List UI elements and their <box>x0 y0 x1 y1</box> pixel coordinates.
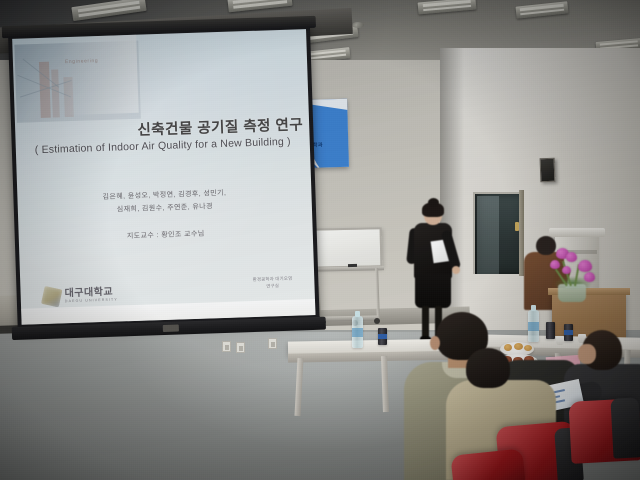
orchid-bloom <box>584 272 595 282</box>
door-leaf <box>477 196 499 274</box>
attendee-ear <box>430 336 440 350</box>
wall-outlet <box>268 338 277 349</box>
attendee-head <box>466 348 510 388</box>
auditorium-seat-arm <box>610 397 640 458</box>
water-bottle <box>528 310 539 342</box>
logo-name-en: DAEGU UNIVERSITY <box>65 298 118 304</box>
presenter-hand <box>452 266 460 274</box>
orchid-bloom <box>578 260 592 272</box>
whiteboard-base <box>322 316 378 322</box>
presentation-slide: Engineering 신축건물 공기질 측정 연구 ( Estimation … <box>12 29 315 325</box>
beverage-can <box>378 328 387 345</box>
presenter-skirt <box>415 274 451 308</box>
ceiling-vent <box>352 22 364 28</box>
orchid-bloom <box>566 252 577 262</box>
orchid-arrangement <box>540 246 616 298</box>
wall-outlet <box>222 341 231 352</box>
presenter-hair-bun <box>428 198 439 207</box>
whiteboard-marker[interactable] <box>348 264 357 267</box>
beverage-can <box>546 322 555 339</box>
logo-text: 대구대학교 DAEGU UNIVERSITY <box>64 288 117 304</box>
wall-outlet <box>236 342 245 353</box>
university-logo: 대구대학교 DAEGU UNIVERSITY <box>42 286 118 306</box>
whiteboard-caster <box>374 318 380 324</box>
orchid-bloom <box>550 260 560 269</box>
logo-mark-icon <box>41 286 62 307</box>
water-bottle <box>352 316 363 348</box>
projection-screen: Engineering 신축건물 공기질 측정 연구 ( Estimation … <box>8 24 320 330</box>
door-handle[interactable] <box>515 222 519 231</box>
flower-vase <box>558 284 586 302</box>
orchid-bloom <box>562 266 571 274</box>
slide-lab-credit-line-2: 연구실 <box>253 282 293 290</box>
slide-lab-credit: 환경공학과 대기오염 연구실 <box>253 275 293 290</box>
wall-speaker <box>540 158 556 183</box>
open-doorway[interactable] <box>473 192 521 274</box>
attendee-face <box>578 344 596 364</box>
photo-scene: 발표회 표회 대구대학교 환경공학과 <box>0 0 640 480</box>
